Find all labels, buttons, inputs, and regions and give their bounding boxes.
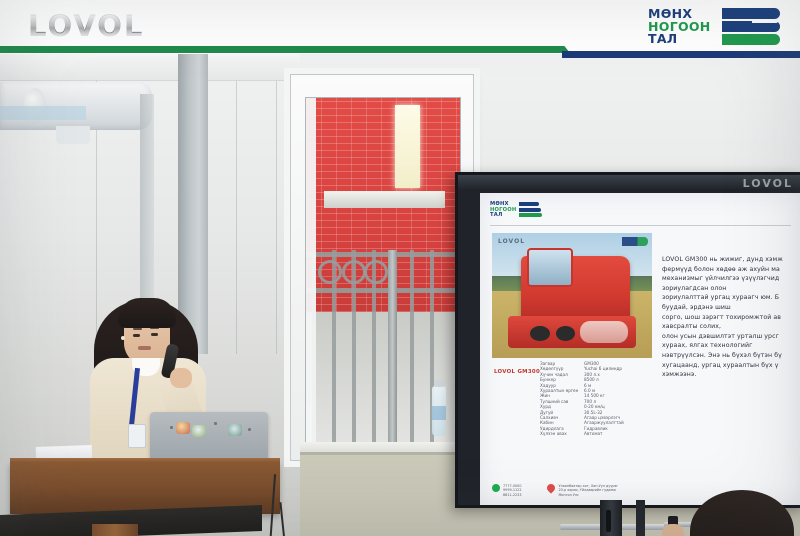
combine-reel [580,321,628,344]
slide-body-line: буудай, эрдэнэ шиш [662,303,800,313]
tv-bezel: LOVOL [458,175,800,189]
partner-logo-mark-icon [722,8,780,46]
presenter-mouth [138,346,151,350]
presenter-badge [128,424,146,448]
bottle-label [432,406,446,420]
presenter-hand [170,368,192,388]
partner-logo-line3: ТАЛ [648,33,726,46]
lamp-tab [56,126,90,144]
slide-body-line: механизмыг үйлчилгээ үзүүлэгчид [662,274,800,284]
podium-column [92,524,138,536]
harvester-photo: LOVOL [492,233,652,358]
header-rule-blue [562,51,800,58]
slide-body-line: сорго, шош зэрэгт тохиромжтой ав [662,313,800,323]
laptop-sticker [228,424,242,436]
slide-divider [490,225,791,226]
location-pin-icon [546,482,557,493]
spec-key: Хүлээн авах [540,431,584,436]
spec-table: ЗагварGM300ХөдөлгүүрYuchai 6 цилиндрХүчи… [540,361,652,437]
room-window [290,74,474,461]
bottle-cap [434,380,444,387]
presentation-tv: LOVOL МӨНХ НОГООН ТАЛ [455,172,800,508]
slide-body-text: LOVOL GM300 нь жижиг, дунд хэмжфермүүд б… [662,255,800,380]
lovol-wordmark: LOVOL [28,13,144,39]
laptop-sticker [176,422,190,434]
audience-hand [662,524,684,536]
slide-body-line: фермүүд болон хөдөө аж ахуйн ма [662,265,800,275]
slide-body-line: олон усын дэвшилтэт урталш урсг [662,332,800,342]
slide-logo-line3: ТАЛ [490,213,520,219]
ceiling-soffit [0,54,300,81]
footer-contact-lines: Улаанбаатар хот, Хан-Уул дүүрэг20-р хоро… [558,484,618,497]
slide-footer: 7777-00009999-11228811-2233Улаанбаатар х… [492,484,618,497]
slide-logo-mark-icon [519,202,542,218]
slide-body-line: хэмжээнэ. [662,370,800,380]
presenter-earring [121,336,125,340]
slide-body-line: зориулагдсан олон [662,284,800,294]
partner-logo: МӨНХ НОГООН ТАЛ [648,6,782,48]
header-rule-green [0,46,562,53]
laptop-sticker [192,425,206,437]
partner-logo-text: МӨНХ НОГООН ТАЛ [648,8,726,46]
lamp-glow [0,106,86,120]
spec-title: LOVOL GM300 [494,369,540,375]
tv-brand-label: LOVOL [743,177,793,190]
slide-body-line: LOVOL GM300 нь жижиг, дунд хэмж [662,255,800,265]
footer-contact: Улаанбаатар хот, Хан-Уул дүүрэг20-р хоро… [547,484,618,497]
combine-cab [527,248,573,287]
presenter-hair-front [118,298,176,328]
photo-scene: LOVOL МӨНХ НОГООН ТАЛ [0,54,800,536]
tv-stand-neck [600,500,622,536]
spec-row: Хүлээн авахАвтомат [540,431,652,436]
screenshot-root: LOVOL МӨНХ НОГООН ТАЛ [0,0,800,536]
slide-partner-logo: МӨНХ НОГООН ТАЛ [490,201,542,221]
phone-icon [492,484,500,492]
tv-stand-neck-secondary [636,500,645,536]
presenter-laptop[interactable] [150,412,268,464]
slide-body-line: хавсралты солих, [662,322,800,332]
photo-corner-logo-icon [622,237,648,246]
presentation-slide: МӨНХ НОГООН ТАЛ [480,193,800,505]
slide-body-line: хураах, ялгах технологийг [662,341,800,351]
footer-contact-lines: 7777-00009999-11228811-2233 [503,484,521,497]
slide-body-line: хугацаанд, ургац хураалтын бүх ү [662,361,800,371]
spec-value: Автомат [584,431,652,436]
slide-body-line: нэвтрүүлсэн. Энэ нь бүхэл бүтэн бү [662,351,800,361]
footer-contact: 7777-00009999-11228811-2233 [492,484,521,497]
photo-brand-label: LOVOL [498,238,525,245]
tv-stand-slot [606,510,611,532]
slide-body-line: зориулалттай ургац хураагч юм. Б [662,293,800,303]
